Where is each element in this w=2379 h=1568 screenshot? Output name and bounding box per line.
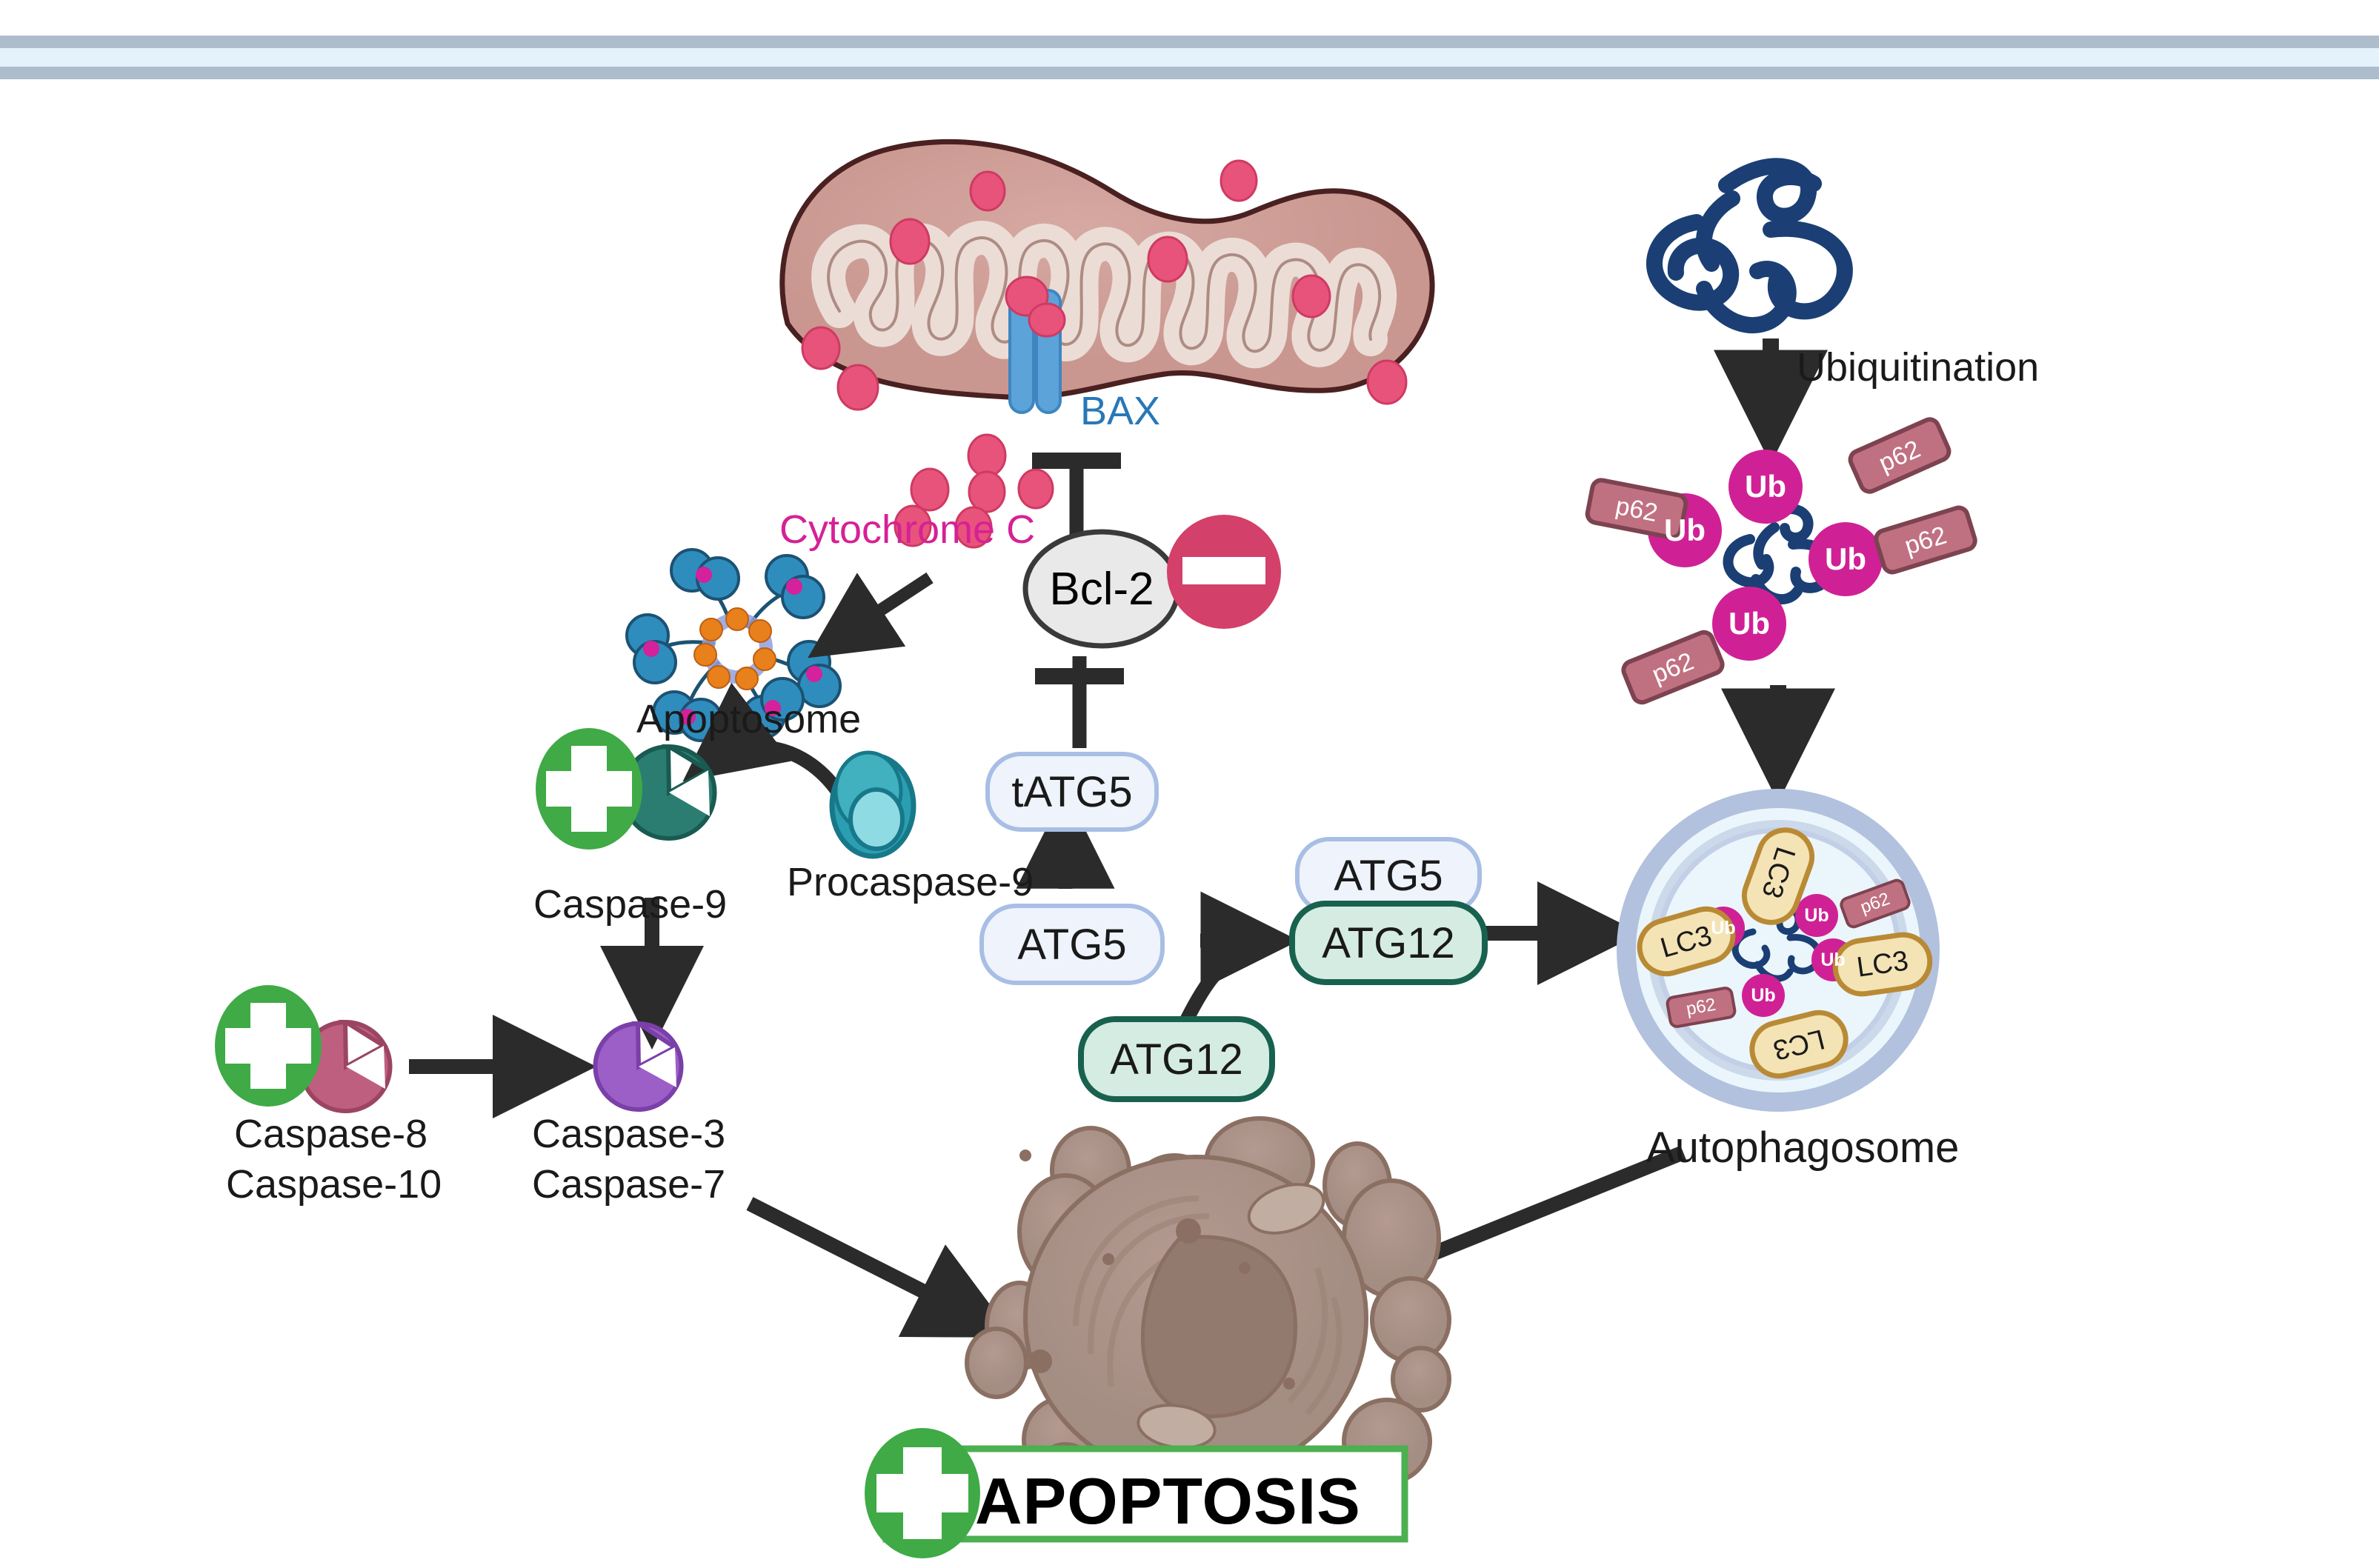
procaspase9-label: Procaspase-9: [787, 859, 1034, 905]
caspase9-label: Caspase-9: [533, 881, 727, 927]
edge-apoptosome-to-caspase9: [702, 747, 841, 796]
ub-label: Ub: [1728, 468, 1803, 505]
inhibition-minus-badge: [1167, 515, 1281, 629]
caspase3-label: Caspase-3: [532, 1111, 725, 1157]
tatg5-node[interactable]: tATG5: [985, 752, 1159, 832]
bax-channel-icon: [1006, 277, 1065, 413]
procaspase9-icon: [832, 753, 914, 856]
diagram-canvas: [0, 0, 2379, 1568]
bax-label: BAX: [1080, 388, 1160, 434]
caspase8-label: Caspase-8: [234, 1111, 427, 1157]
ub-label: Ub: [1794, 904, 1839, 927]
cytochrome-c-label: Cytochrome C: [779, 507, 1035, 553]
edge-bcl2-inhibits-tatg5: [1035, 656, 1124, 748]
ubiquitination-label: Ubiquitination: [1797, 344, 2039, 390]
ub-label: Ub: [1741, 984, 1786, 1007]
atg5-node[interactable]: ATG5: [979, 904, 1165, 985]
edge-caspase3-to-cell: [750, 1204, 991, 1326]
apoptosis-outcome-label: APOPTOSIS: [975, 1464, 1361, 1539]
caspase8-plus-badge: [215, 985, 322, 1107]
ub-label: Ub: [1712, 605, 1786, 642]
lc3-label: LC3: [1857, 947, 1909, 983]
caspase9-plus-badge: [536, 728, 642, 850]
atg12-node[interactable]: ATG12: [1078, 1016, 1275, 1102]
autophagosome-label: Autophagosome: [1646, 1123, 1959, 1172]
misfolded-protein-icon: [1654, 166, 1845, 325]
pathway-diagram: BAX Cytochrome C Apoptosome Caspase-9 Pr…: [0, 0, 2379, 1568]
mitochondrion: [782, 141, 1432, 410]
apoptosis-plus-badge: [865, 1428, 980, 1558]
ub-label: Ub: [1811, 948, 1855, 972]
caspase10-label: Caspase-10: [226, 1161, 442, 1207]
apoptosome-label: Apoptosome: [636, 696, 861, 742]
bcl2-node-label[interactable]: Bcl-2: [1025, 564, 1178, 613]
caspase3-icon: [596, 1024, 682, 1110]
ub-label: Ub: [1809, 541, 1883, 578]
caspase7-label: Caspase-7: [532, 1161, 725, 1207]
plasma-membrane-band: [0, 36, 2379, 79]
atg12-complex-node[interactable]: ATG12: [1289, 901, 1488, 985]
edge-cytc-to-apoptosome: [826, 578, 930, 646]
